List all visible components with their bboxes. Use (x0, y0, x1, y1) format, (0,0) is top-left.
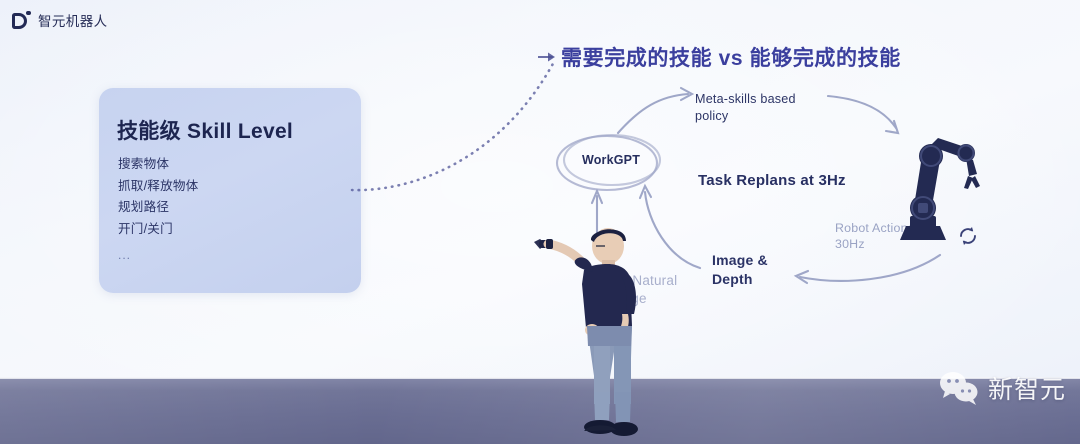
watermark: 新智元 (937, 370, 1066, 406)
skill-card-title: 技能级 Skill Level (117, 115, 293, 145)
list-item: 规划路径 (118, 197, 198, 219)
watermark-text: 新智元 (988, 370, 1066, 406)
list-item: 开门/关门 (118, 219, 198, 241)
headline-arrow-icon (538, 50, 560, 64)
skill-level-card: 技能级 Skill Level 搜索物体 抓取/释放物体 规划路径 开门/关门 … (99, 88, 361, 293)
d-mark-icon (12, 11, 31, 30)
list-item: 抓取/释放物体 (118, 176, 198, 198)
presenter-person (520, 222, 655, 444)
brand-logo: 智元机器人 (12, 10, 108, 30)
skill-card-ellipsis: ... (118, 248, 131, 262)
dotted-connector-arrow (350, 42, 580, 197)
refresh-loop-icon (956, 224, 980, 248)
node-workgpt: WorkGPT (576, 153, 646, 167)
wechat-icon (937, 370, 981, 406)
node-meta-skills: Meta-skills based policy (695, 91, 807, 125)
node-task-replans: Task Replans at 3Hz (698, 172, 846, 189)
node-image-depth: Image & Depth (712, 251, 782, 289)
list-item: 搜索物体 (118, 154, 198, 176)
skill-card-list: 搜索物体 抓取/释放物体 规划路径 开门/关门 (118, 154, 198, 240)
slide-headline: 需要完成的技能 vs 能够完成的技能 (561, 42, 901, 72)
brand-name: 智元机器人 (38, 10, 108, 30)
